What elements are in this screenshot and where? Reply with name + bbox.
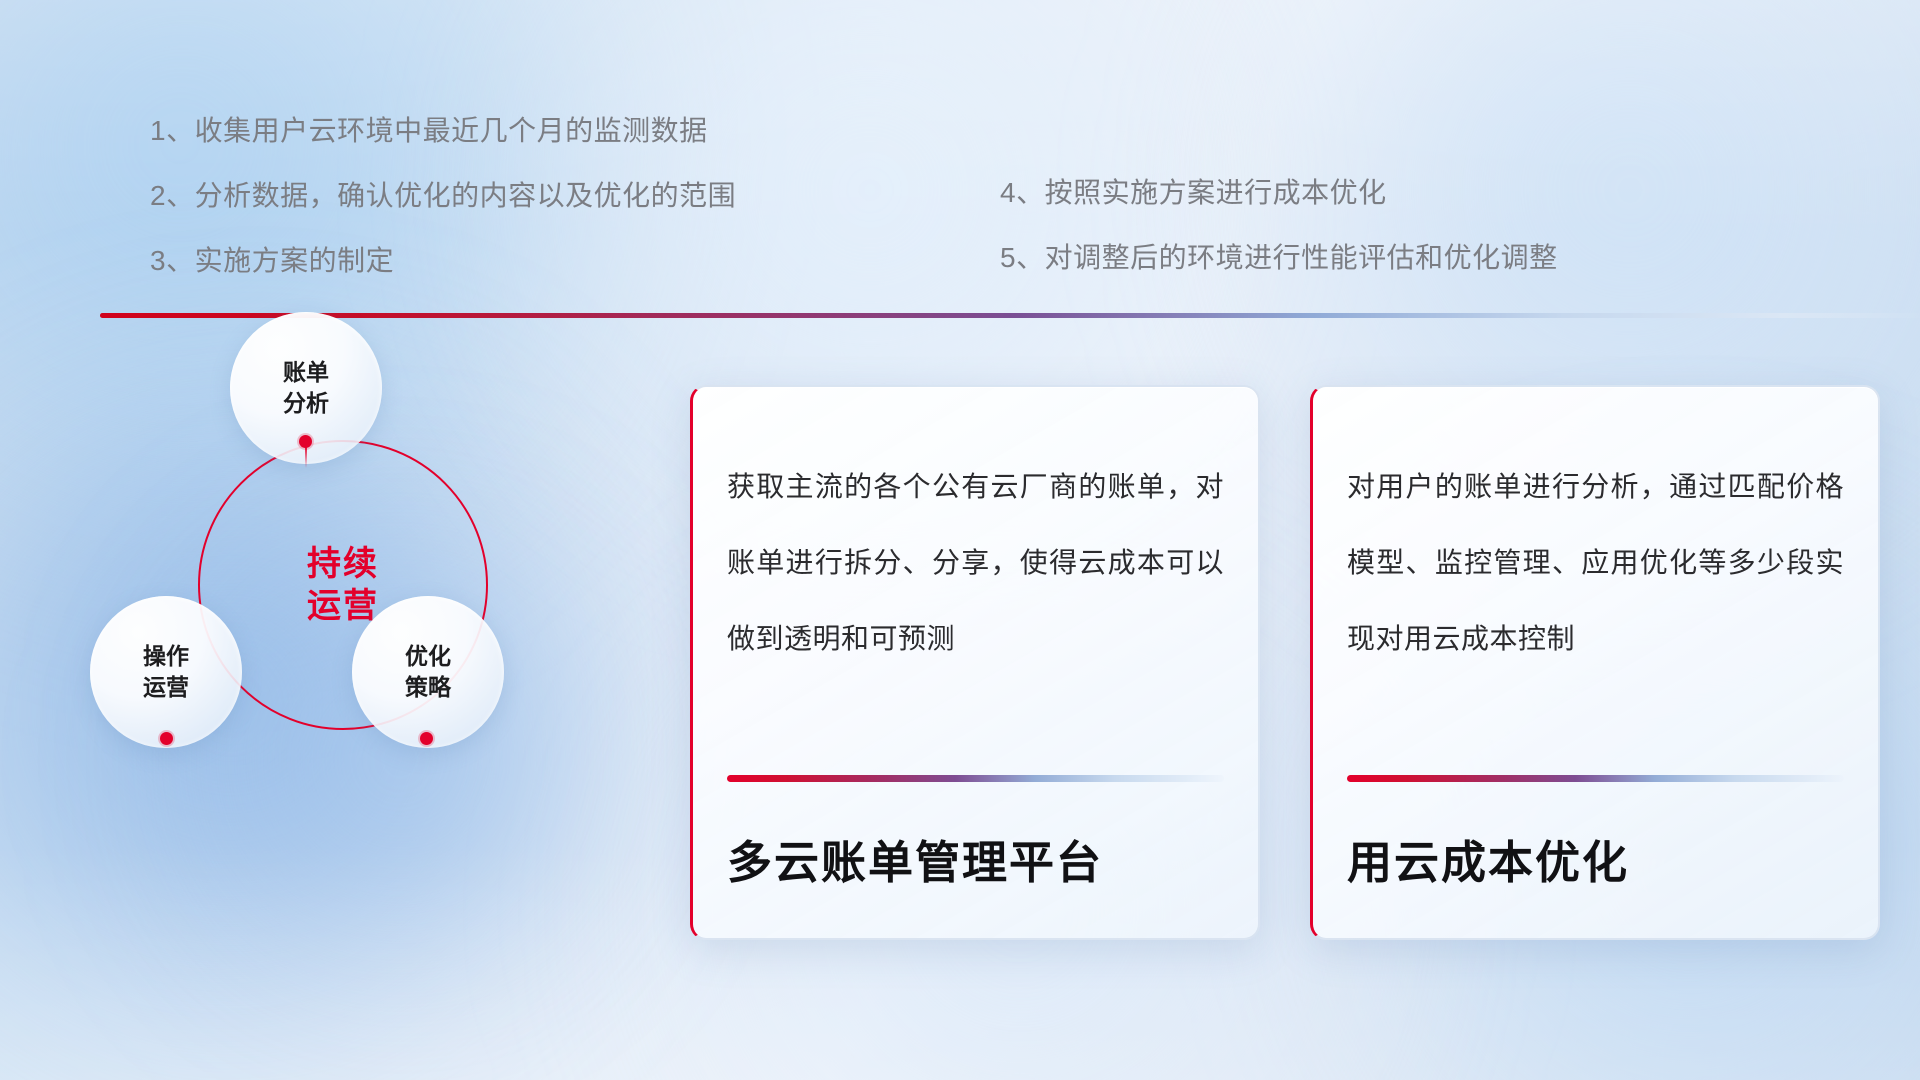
feature-card-title: 多云账单管理平台 xyxy=(727,826,1224,891)
process-step-item: 2、分析数据，确认优化的内容以及优化的范围 xyxy=(150,163,736,228)
process-step-item: 4、按照实施方案进行成本优化 xyxy=(1000,160,1558,225)
process-steps-right-column: 4、按照实施方案进行成本优化 5、对调整后的环境进行性能评估和优化调整 xyxy=(1000,160,1558,290)
process-steps-left-column: 1、收集用户云环境中最近几个月的监测数据 2、分析数据，确认优化的内容以及优化的… xyxy=(150,98,736,293)
cycle-node-dot xyxy=(160,732,173,745)
process-step-item: 5、对调整后的环境进行性能评估和优化调整 xyxy=(1000,225,1558,290)
cycle-node-operations[interactable]: 操作 运营 xyxy=(90,596,242,748)
cycle-connector-line xyxy=(305,446,307,468)
cycle-node-dot xyxy=(299,435,312,448)
feature-card-multicloud-billing[interactable]: 获取主流的各个公有云厂商的账单，对账单进行拆分、分享，使得云成本可以做到透明和可… xyxy=(690,385,1260,940)
cycle-node-label-line2: 策略 xyxy=(405,672,451,703)
cycle-node-label-line2: 分析 xyxy=(283,388,329,419)
feature-card-divider xyxy=(1347,775,1844,782)
feature-card-cost-optimization[interactable]: 对用户的账单进行分析，通过匹配价格模型、监控管理、应用优化等多少段实现对用云成本… xyxy=(1310,385,1880,940)
process-step-item: 1、收集用户云环境中最近几个月的监测数据 xyxy=(150,98,736,163)
cycle-node-optimization-strategy[interactable]: 优化 策略 xyxy=(352,596,504,748)
section-divider xyxy=(100,313,1920,318)
feature-card-divider xyxy=(727,775,1224,782)
process-step-item: 3、实施方案的制定 xyxy=(150,228,736,293)
cycle-node-label-line1: 账单 xyxy=(283,357,329,388)
cycle-center-label-line2: 运营 xyxy=(307,585,379,627)
cycle-node-label-line2: 运营 xyxy=(143,672,189,703)
cycle-node-label-line1: 优化 xyxy=(405,641,451,672)
feature-card-description: 对用户的账单进行分析，通过匹配价格模型、监控管理、应用优化等多少段实现对用云成本… xyxy=(1347,449,1844,749)
cycle-center-label-line1: 持续 xyxy=(307,543,379,585)
cycle-diagram: 持续 运营 账单 分析 操作 运营 优化 策略 xyxy=(80,350,550,830)
cycle-node-dot xyxy=(420,732,433,745)
cycle-node-label-line1: 操作 xyxy=(143,641,189,672)
feature-card-description: 获取主流的各个公有云厂商的账单，对账单进行拆分、分享，使得云成本可以做到透明和可… xyxy=(727,449,1224,749)
feature-card-title: 用云成本优化 xyxy=(1347,826,1844,891)
